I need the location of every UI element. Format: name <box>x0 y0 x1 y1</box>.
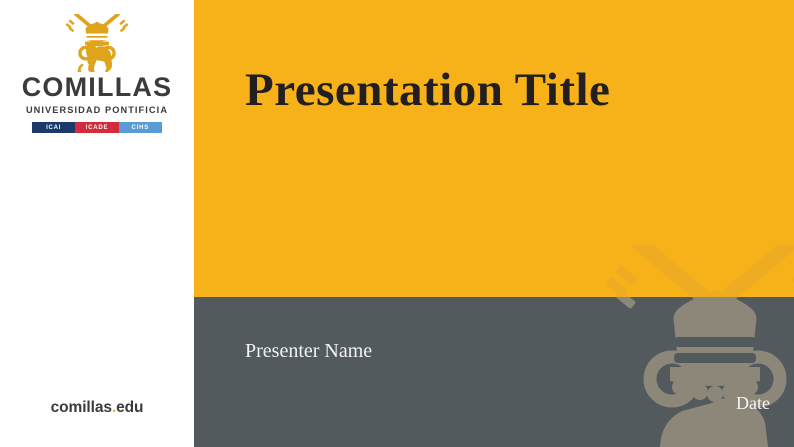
presenter-band <box>192 297 794 447</box>
logo-sidebar: COMILLAS UNIVERSIDAD PONTIFICIA ICAI ICA… <box>0 0 194 447</box>
presentation-slide: Presentation Title Presenter Name Date <box>0 0 794 447</box>
title-band <box>194 0 794 297</box>
logo-school-icade: ICADE <box>75 122 118 133</box>
slide-title[interactable]: Presentation Title <box>245 63 610 117</box>
watermark-crest-upper <box>600 245 794 297</box>
presenter-name[interactable]: Presenter Name <box>245 340 372 363</box>
comillas-crest-watermark-icon <box>600 297 794 447</box>
footer-url-tld: edu <box>116 399 143 416</box>
comillas-logo: COMILLAS UNIVERSIDAD PONTIFICIA ICAI ICA… <box>0 14 194 133</box>
logo-schools-bar: ICAI ICADE CIHS <box>32 122 162 133</box>
logo-school-icai: ICAI <box>32 122 75 133</box>
logo-school-cihs: CIHS <box>119 122 162 133</box>
watermark-crest-lower <box>600 297 794 447</box>
comillas-crest-lion-keys-crown-icon <box>0 14 194 72</box>
logo-subtitle: UNIVERSIDAD PONTIFICIA <box>0 106 194 115</box>
footer-url-name: comillas <box>51 399 112 416</box>
footer-url[interactable]: comillas.edu <box>0 399 194 417</box>
comillas-crest-watermark-icon <box>600 245 794 297</box>
logo-wordmark: COMILLAS <box>0 74 194 101</box>
slide-date[interactable]: Date <box>736 393 770 414</box>
